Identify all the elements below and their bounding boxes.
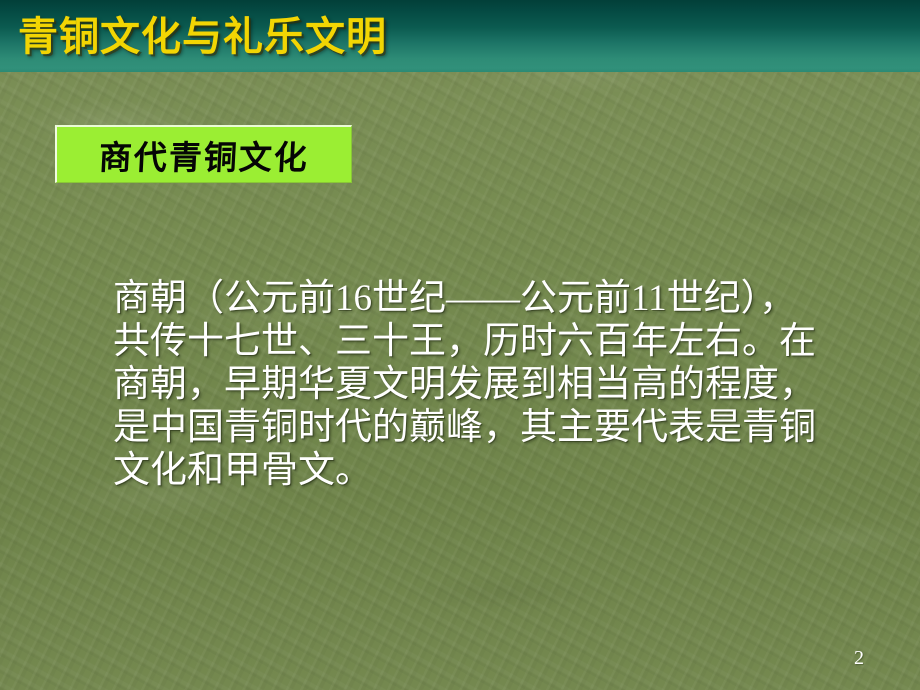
title-banner: 青铜文化与礼乐文明 [0,0,920,72]
section-heading-box: 商代青铜文化 [55,125,352,183]
body-line: 商朝，早期华夏文明发展到相当高的程度， [113,363,843,406]
body-line: 是中国青铜时代的巅峰，其主要代表是青铜 [113,406,843,449]
page-number: 2 [854,646,864,670]
body-paragraph: 商朝（公元前16世纪——公元前11世纪）， 共传十七世、三十王，历时六百年左右。… [113,277,843,492]
body-line: 商朝（公元前16世纪——公元前11世纪）， [113,277,843,320]
presentation-slide: 青铜文化与礼乐文明 商代青铜文化 商朝（公元前16世纪——公元前11世纪）， 共… [0,0,920,690]
section-heading-label: 商代青铜文化 [98,131,311,179]
slide-title: 青铜文化与礼乐文明 [18,14,387,60]
body-line: 文化和甲骨文。 [113,449,843,492]
body-line: 共传十七世、三十王，历时六百年左右。在 [113,320,843,363]
